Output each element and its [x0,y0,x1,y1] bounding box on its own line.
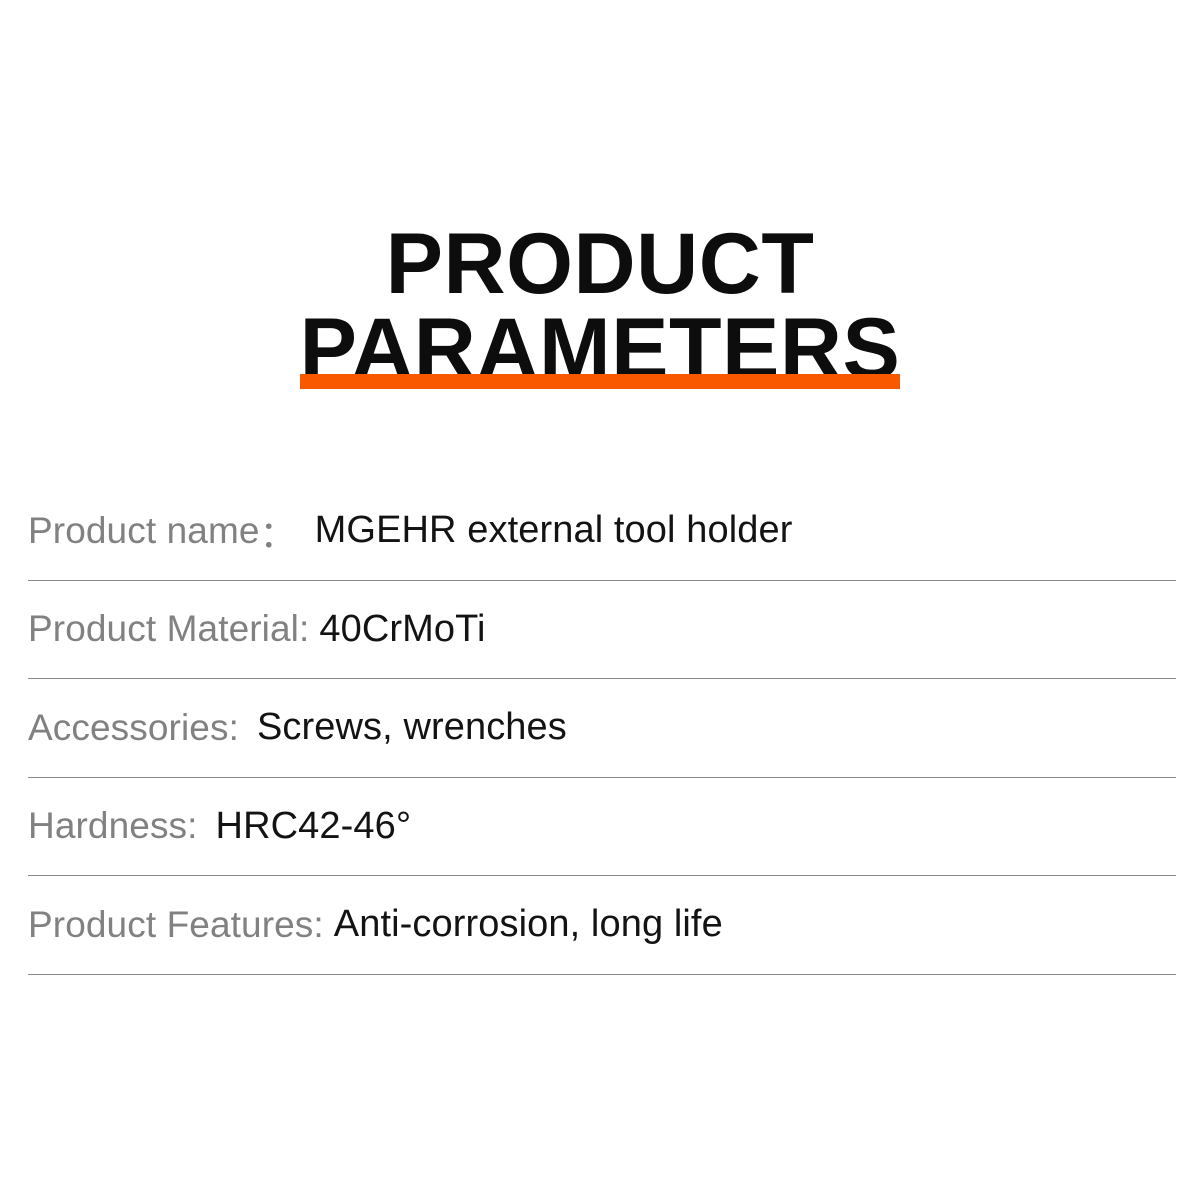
spec-row-product-name: Product name ： MGEHR external tool holde… [28,482,1176,581]
spec-table: Product name ： MGEHR external tool holde… [28,482,1176,975]
spec-value: Anti-corrosion, long life [334,903,723,946]
spec-label: Hardness [28,805,187,847]
spec-label: Product Material [28,608,299,650]
page-title-line-1: PRODUCT [0,222,1200,307]
spec-separator: : [187,805,197,847]
spec-label: Product name [28,510,260,552]
spec-separator: : [299,608,309,650]
title-accent-underline [300,374,901,389]
spec-label: Product Features [28,904,313,946]
product-parameters-page: PRODUCT PARAMETERS Product name ： MGEHR … [0,0,1200,1200]
spec-value: Screws, wrenches [257,706,567,749]
spec-value: MGEHR external tool holder [315,509,793,552]
page-title-line-2-wrapper: PARAMETERS [300,307,901,392]
spec-separator: ： [260,504,297,558]
spec-row-accessories: Accessories : Screws, wrenches [28,679,1176,778]
spec-value: 40CrMoTi [319,608,485,651]
spec-separator: : [229,707,239,749]
spec-row-product-material: Product Material : 40CrMoTi [28,581,1176,680]
spec-row-hardness: Hardness : HRC42-46° [28,778,1176,877]
page-title-block: PRODUCT PARAMETERS [0,222,1200,392]
spec-label: Accessories [28,707,229,749]
spec-value: HRC42-46° [216,805,412,848]
spec-separator: : [313,904,323,946]
spec-row-product-features: Product Features : Anti-corrosion, long … [28,876,1176,975]
